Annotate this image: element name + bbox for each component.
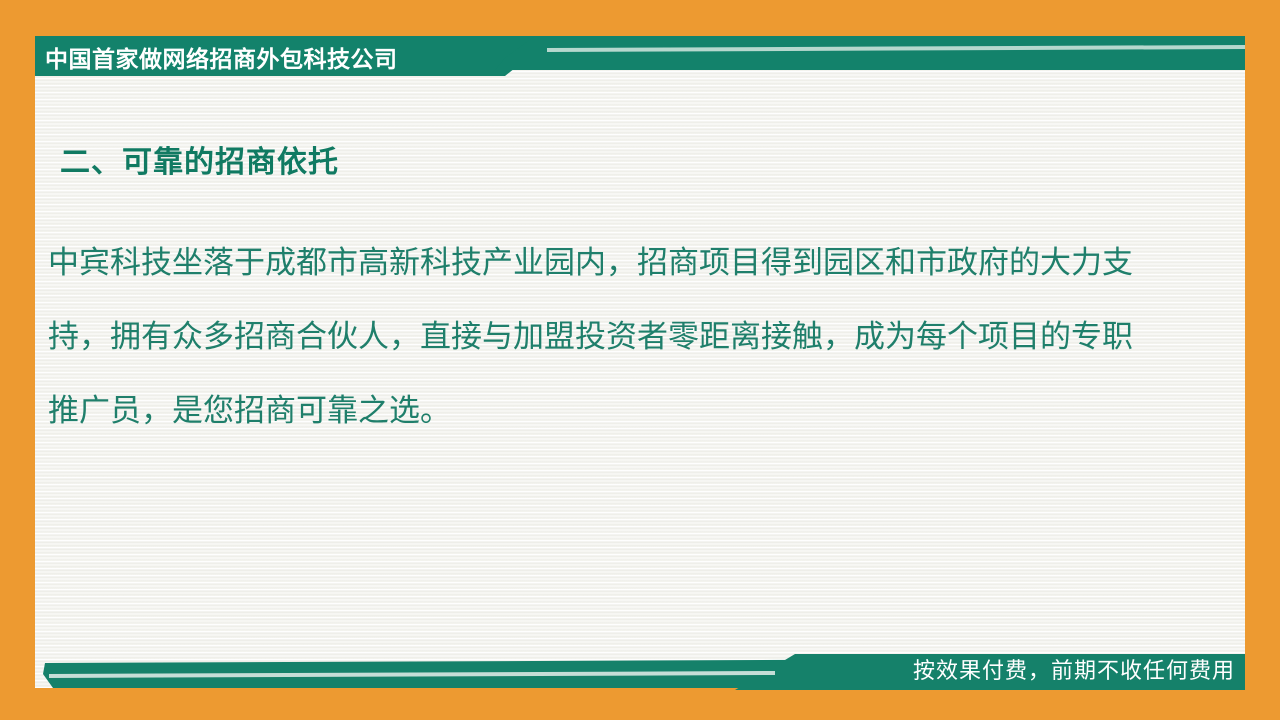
header-title: 中国首家做网络招商外包科技公司: [45, 40, 515, 73]
body-paragraph: 中宾科技坐落于成都市高新科技产业园内，招商项目得到园区和市政府的大力支 持，拥有…: [48, 226, 1183, 448]
body-line-1: 中宾科技坐落于成都市高新科技产业园内，招商项目得到园区和市政府的大力支: [48, 226, 1183, 300]
body-line-2: 持，拥有众多招商合伙人，直接与加盟投资者零距离接触，成为每个项目的专职: [48, 300, 1183, 374]
presentation-slide: 中国首家做网络招商外包科技公司 二、可靠的招商依托 中宾科技坐落于成都市高新科技…: [0, 0, 1280, 720]
body-line-3: 推广员，是您招商可靠之选。: [48, 374, 1183, 448]
header-right-band: [495, 36, 1245, 70]
section-heading: 二、可靠的招商依托: [60, 137, 339, 181]
footer-tagline: 按效果付费，前期不收任何费用: [913, 651, 1235, 687]
